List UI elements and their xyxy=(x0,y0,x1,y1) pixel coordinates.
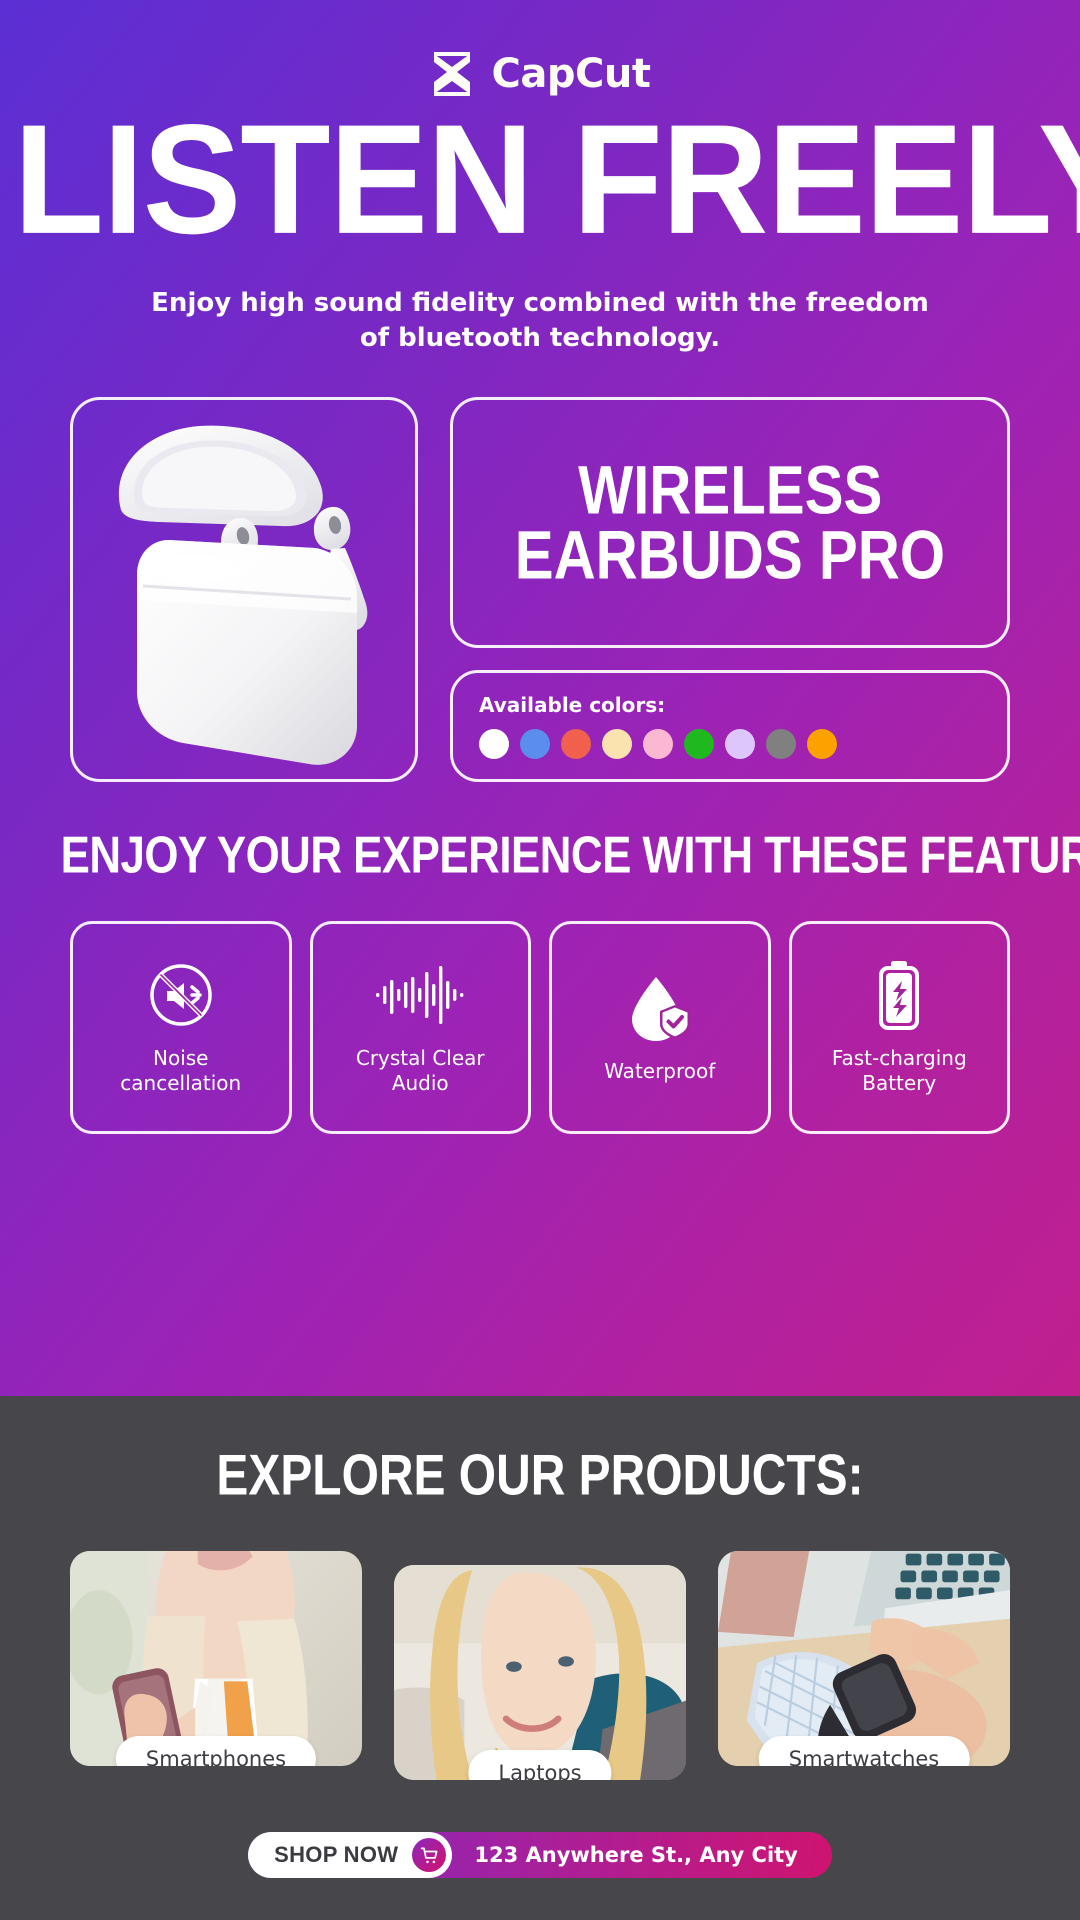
color-swatch-white[interactable] xyxy=(479,729,509,759)
color-swatch-blue[interactable] xyxy=(520,729,550,759)
feature-label: Crystal ClearAudio xyxy=(356,1046,485,1096)
feature-card-noise-cancellation[interactable]: Noisecancellation xyxy=(70,921,292,1134)
wireless-earbuds-image xyxy=(73,400,415,779)
color-swatch-cream[interactable] xyxy=(602,729,632,759)
explore-heading: EXPLORE OUR PRODUCTS: xyxy=(61,1385,1020,1508)
product-title-line-1: WIRELESS xyxy=(578,453,882,525)
brand-name: CapCut xyxy=(492,51,651,97)
color-swatch-gray[interactable] xyxy=(766,729,796,759)
cta-bar: SHOP NOW 123 Anywhere St., Any City xyxy=(70,1832,1010,1878)
product-image-card xyxy=(70,397,418,782)
feature-card-fast-charging-battery[interactable]: Fast-chargingBattery xyxy=(789,921,1011,1134)
color-swatch-orange[interactable] xyxy=(807,729,837,759)
brand-logo: CapCut xyxy=(70,0,1010,92)
feature-card-crystal-clear-audio[interactable]: Crystal ClearAudio xyxy=(310,921,532,1134)
available-colors-card: Available colors: xyxy=(450,670,1010,782)
feature-label: Fast-chargingBattery xyxy=(832,1046,967,1096)
available-colors-label: Available colors: xyxy=(479,693,981,717)
product-showcase: WIRELESS EARBUDS PRO Available colors: xyxy=(70,397,1010,782)
product-category-list: Smartphones Lapt xyxy=(70,1551,1010,1766)
color-swatch-pink[interactable] xyxy=(643,729,673,759)
explore-section: EXPLORE OUR PRODUCTS: xyxy=(0,1396,1080,1920)
poster: CapCut LISTEN FREELY Enjoy high sound fi… xyxy=(0,0,1080,1920)
color-swatch-coral[interactable] xyxy=(561,729,591,759)
feature-card-waterproof[interactable]: Waterproof xyxy=(549,921,771,1134)
noise-cancellation-icon xyxy=(147,958,215,1032)
feature-label: Waterproof xyxy=(604,1059,715,1084)
category-card-smartphones[interactable]: Smartphones xyxy=(70,1551,362,1766)
product-title-card: WIRELESS EARBUDS PRO xyxy=(450,397,1010,648)
shopping-cart-icon xyxy=(412,1838,446,1872)
page-title: LISTEN FREELY xyxy=(14,116,1067,244)
product-info-column: WIRELESS EARBUDS PRO Available colors: xyxy=(450,397,1010,782)
waterproof-droplet-icon xyxy=(626,971,694,1045)
shop-now-button[interactable]: SHOP NOW xyxy=(248,1832,452,1878)
audio-waveform-icon xyxy=(374,958,466,1032)
store-address: 123 Anywhere St., Any City xyxy=(452,1843,798,1867)
color-swatch-lavender[interactable] xyxy=(725,729,755,759)
category-label: Smartphones xyxy=(116,1736,316,1766)
category-card-laptops[interactable]: Laptops xyxy=(394,1565,686,1780)
battery-charging-icon xyxy=(874,958,924,1032)
hero-section: CapCut LISTEN FREELY Enjoy high sound fi… xyxy=(0,0,1080,1396)
color-swatch-list xyxy=(479,729,981,759)
category-label: Laptops xyxy=(468,1750,611,1780)
woman-with-laptop-image xyxy=(394,1565,686,1780)
features-heading: ENJOY YOUR EXPERIENCE WITH THESE FEATURE… xyxy=(61,827,1020,886)
product-title-line-2: EARBUDS PRO xyxy=(515,519,945,591)
shop-now-label: SHOP NOW xyxy=(274,1842,398,1868)
features-list: Noisecancellation xyxy=(70,921,1010,1134)
shop-now-bar[interactable]: SHOP NOW 123 Anywhere St., Any City xyxy=(248,1832,832,1878)
category-card-smartwatches[interactable]: Smartwatches xyxy=(718,1551,1010,1766)
hero-subtitle: Enjoy high sound fidelity combined with … xyxy=(140,286,940,355)
feature-label: Noisecancellation xyxy=(120,1046,241,1096)
woman-holding-smartphone-image xyxy=(70,1551,362,1766)
capcut-logo-icon xyxy=(430,52,476,96)
color-swatch-green[interactable] xyxy=(684,729,714,759)
category-label: Smartwatches xyxy=(759,1736,970,1766)
hand-wearing-smartwatch-image xyxy=(718,1551,1010,1766)
